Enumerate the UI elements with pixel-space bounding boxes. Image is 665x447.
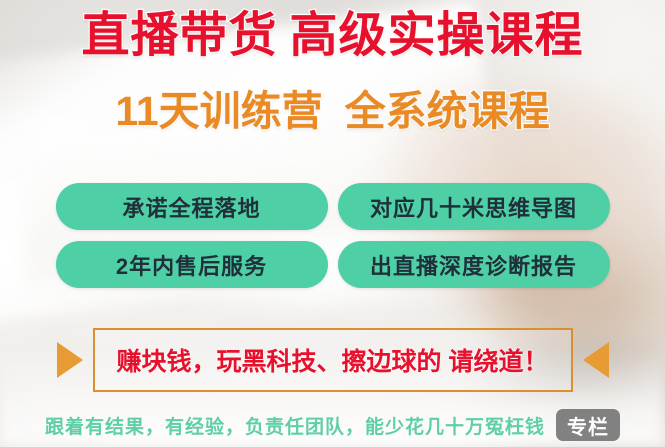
promo-poster: 直播带货高级实操课程 11天训练营全系统课程 承诺全程落地 对应几十米思维导图 … [0, 0, 665, 447]
column-badge[interactable]: 专栏 [556, 409, 620, 441]
footer-row: 跟着有结果，有经验，负责任团队，能少花几十万冤枉钱 专栏 [0, 408, 665, 442]
triangle-left-icon [583, 342, 609, 378]
feature-pill-label: 对应几十米思维导图 [370, 191, 577, 223]
warning-banner: 赚块钱，玩黑科技、擦边球的 请绕道！ [93, 328, 573, 392]
footer-tagline: 跟着有结果，有经验，负责任团队，能少花几十万冤枉钱 [45, 412, 545, 439]
feature-pill[interactable]: 出直播深度诊断报告 [338, 241, 610, 288]
headline-primary: 直播带货高级实操课程 [0, 6, 665, 66]
warning-banner-row: 赚块钱，玩黑科技、擦边球的 请绕道！ [0, 327, 665, 393]
feature-pill[interactable]: 2年内售后服务 [56, 241, 328, 288]
headline-primary-part2: 高级实操课程 [290, 9, 584, 62]
triangle-right-icon [57, 342, 83, 378]
warning-banner-text: 赚块钱，玩黑科技、擦边球的 请绕道！ [117, 342, 549, 378]
poster-content: 直播带货高级实操课程 11天训练营全系统课程 承诺全程落地 对应几十米思维导图 … [0, 0, 665, 447]
feature-pill[interactable]: 承诺全程落地 [56, 183, 328, 230]
headline-secondary: 11天训练营全系统课程 [0, 85, 665, 137]
headline-secondary-part2: 全系统课程 [345, 88, 550, 134]
feature-pill-label: 承诺全程落地 [122, 191, 260, 223]
headline-secondary-part1: 11天训练营 [115, 88, 322, 134]
headline-primary-part1: 直播带货 [81, 9, 277, 62]
feature-pill-label: 2年内售后服务 [116, 249, 267, 281]
feature-pill[interactable]: 对应几十米思维导图 [338, 183, 610, 230]
feature-pill-label: 出直播深度诊断报告 [370, 249, 577, 281]
feature-pill-grid: 承诺全程落地 对应几十米思维导图 2年内售后服务 出直播深度诊断报告 [0, 183, 665, 288]
